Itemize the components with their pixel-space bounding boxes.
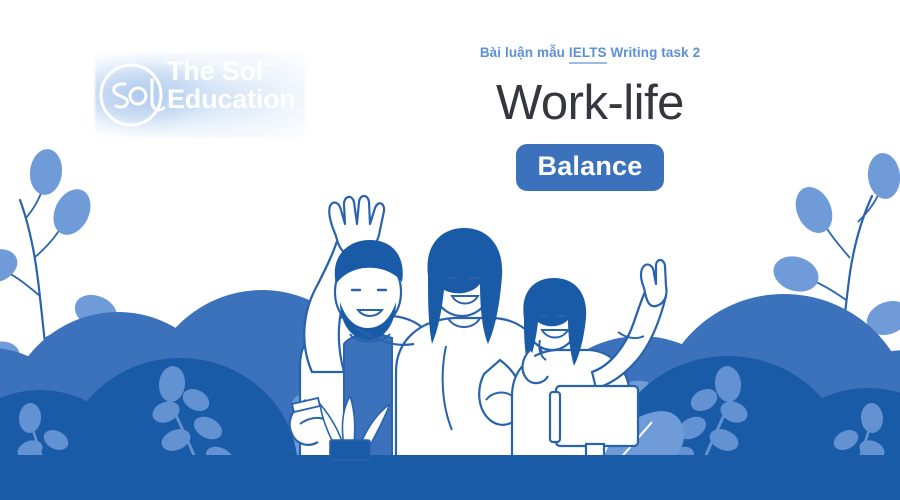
eyebrow-highlight: IELTS	[569, 45, 607, 64]
eyebrow-prefix: Bài luận mẫu	[480, 45, 569, 60]
badge-wrapper: Balance	[430, 144, 750, 191]
headline-block: Bài luận mẫu IELTS Writing task 2 Work-l…	[430, 45, 750, 191]
balance-badge: Balance	[516, 144, 665, 191]
eyebrow-text: Bài luận mẫu IELTS Writing task 2	[430, 45, 750, 60]
logo-line2: Education	[167, 86, 307, 114]
logo-wordmark: The Sol™Education	[167, 58, 307, 113]
logo-line1: The Sol	[167, 56, 263, 86]
logo-trademark: ™	[263, 62, 273, 73]
eyebrow-suffix: Writing task 2	[607, 45, 701, 60]
banner: The Sol™Education Bài luận mẫu IELTS Wri…	[0, 0, 900, 500]
brand-logo[interactable]: The Sol™Education	[95, 52, 305, 138]
page-title: Work-life	[430, 79, 750, 128]
